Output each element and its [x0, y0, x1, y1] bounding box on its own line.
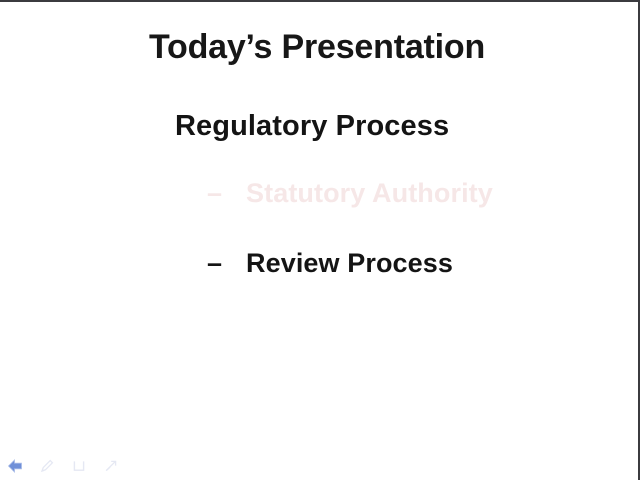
slide-body: Regulatory Process – Statutory Authority…	[0, 102, 634, 332]
pen-icon[interactable]	[37, 457, 57, 475]
bullet-marker: –	[207, 178, 246, 209]
presentation-toolbar[interactable]	[5, 456, 121, 476]
previous-slide-arrow-icon[interactable]	[5, 457, 25, 475]
bullet-label-review-process: Review Process	[246, 248, 453, 279]
presentation-slide: Today’s Presentation Regulatory Process …	[0, 0, 640, 480]
pointer-options-icon[interactable]	[101, 457, 121, 475]
bullet-statutory-authority: – Statutory Authority	[207, 178, 493, 209]
bullet-label-statutory-authority: Statutory Authority	[246, 178, 493, 209]
bullet-marker: –	[207, 248, 246, 279]
slide-title: Today’s Presentation	[0, 28, 634, 66]
slide-menu-icon[interactable]	[69, 457, 89, 475]
bullet-label-regulatory-process: Regulatory Process	[175, 110, 449, 143]
bullet-regulatory-process: Regulatory Process	[175, 110, 449, 143]
bullet-review-process: – Review Process	[207, 248, 453, 279]
